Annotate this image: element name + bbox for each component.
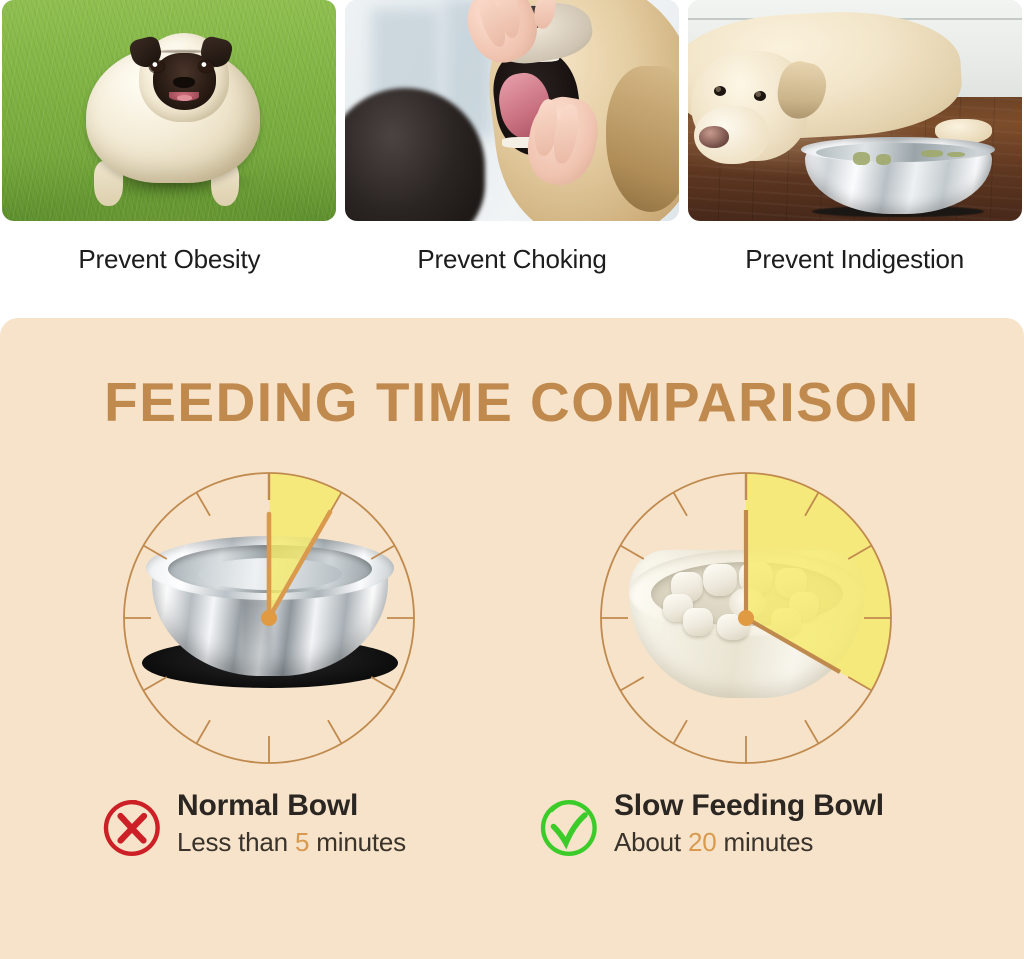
legend-text-block: Slow Feeding Bowl About 20 minutes [614, 790, 884, 858]
feeding-time-comparison-panel: FEEDING TIME COMPARISON [0, 318, 1024, 959]
clock-slow-feeding-bowl [581, 458, 911, 778]
clock-comparison-row [0, 458, 1024, 778]
green-circle-check-icon [540, 799, 598, 857]
legend-slow-feeding-bowl: Slow Feeding Bowl About 20 minutes [540, 790, 884, 858]
legend-subtitle: About 20 minutes [614, 827, 884, 858]
benefit-cell-prevent-choking: Prevent Choking [345, 0, 680, 300]
clock-center-pin [261, 610, 277, 626]
kibble-3 [921, 150, 943, 157]
comparison-legend: Normal Bowl Less than 5 minutes Slow Fee… [0, 790, 1024, 910]
legend-title: Slow Feeding Bowl [614, 790, 884, 822]
clock-center-pin [738, 610, 754, 626]
kibble-1 [853, 152, 870, 165]
benefit-caption: Prevent Indigestion [745, 244, 964, 275]
pug-eye-left [150, 61, 164, 72]
legend-sub-value: 5 [295, 827, 309, 857]
legend-sub-suffix: minutes [316, 827, 406, 857]
legend-subtitle: Less than 5 minutes [177, 827, 406, 858]
legend-title: Normal Bowl [177, 790, 406, 822]
photo-overweight-pug [2, 0, 336, 221]
legend-sub-prefix: About [614, 827, 681, 857]
clock-dial-5-minutes [104, 458, 434, 778]
infographic-page: Prevent Obesity [0, 0, 1024, 959]
benefit-cell-prevent-indigestion: Prevent Indigestion [687, 0, 1022, 300]
benefit-cell-prevent-obesity: Prevent Obesity [2, 0, 337, 300]
red-circle-x-icon [103, 799, 161, 857]
kibble-2 [876, 154, 891, 166]
clock-normal-bowl [104, 458, 434, 778]
legend-sub-value: 20 [688, 827, 717, 857]
pug-tongue [177, 95, 192, 100]
benefit-caption: Prevent Obesity [78, 244, 260, 275]
clock-dial-20-minutes [581, 458, 911, 778]
legend-sub-prefix: Less than [177, 827, 288, 857]
benefits-photo-strip: Prevent Obesity [0, 0, 1024, 300]
labrador-nose [699, 126, 729, 148]
steel-bowl-on-floor [805, 141, 992, 214]
legend-text-block: Normal Bowl Less than 5 minutes [177, 790, 406, 858]
legend-sub-suffix: minutes [724, 827, 814, 857]
legend-normal-bowl: Normal Bowl Less than 5 minutes [103, 790, 406, 858]
page-title: FEEDING TIME COMPARISON [0, 370, 1024, 434]
photo-vet-checking-dog-mouth [345, 0, 679, 221]
photo-labrador-with-bowl [688, 0, 1022, 221]
benefit-caption: Prevent Choking [417, 244, 606, 275]
